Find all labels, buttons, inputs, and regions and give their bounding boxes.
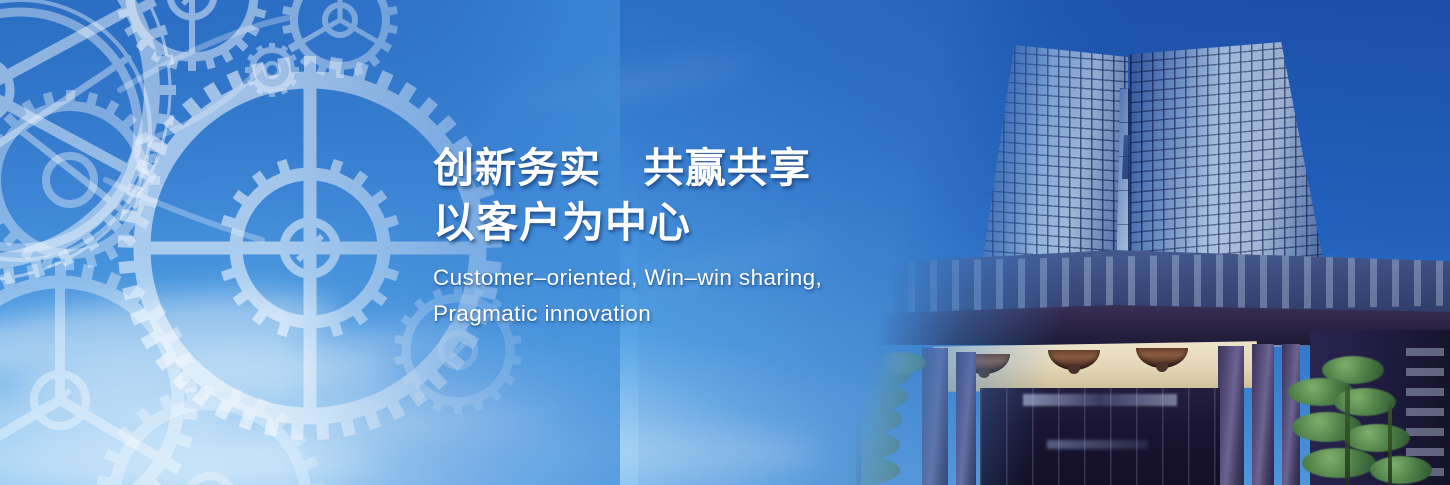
subhead-en-line1: Customer–oriented, Win–win sharing,: [433, 260, 993, 296]
hero-banner: 创新务实 共赢共享 以客户为中心 Customer–oriented, Win–…: [0, 0, 1450, 485]
topiary-shrub: [1344, 424, 1410, 452]
topiary-shrub: [874, 352, 926, 374]
topiary-shrub: [1334, 388, 1396, 416]
entrance-column: [922, 348, 948, 485]
entrance-glass: [980, 388, 1220, 485]
headline-cn-line1: 创新务实 共赢共享: [433, 143, 993, 194]
headline-cn-line2: 以客户为中心: [433, 197, 993, 248]
entrance-column: [956, 352, 976, 485]
shrub-stem: [1345, 386, 1350, 485]
lobby-light-band: [1047, 440, 1148, 449]
headline-copy: 创新务实 共赢共享 以客户为中心 Customer–oriented, Win–…: [433, 143, 993, 332]
topiary-shrub: [1302, 448, 1376, 478]
entrance-column: [1282, 344, 1300, 485]
lobby-light-band: [1023, 394, 1177, 406]
shrub-stem: [1388, 404, 1392, 485]
subhead-en-line2: Pragmatic innovation: [433, 296, 993, 332]
shrub-stem: [856, 380, 861, 485]
entrance-column: [1218, 346, 1244, 485]
subhead-en: Customer–oriented, Win–win sharing, Prag…: [433, 260, 993, 332]
entrance-column: [1252, 344, 1274, 485]
topiary-shrub: [1370, 456, 1432, 484]
